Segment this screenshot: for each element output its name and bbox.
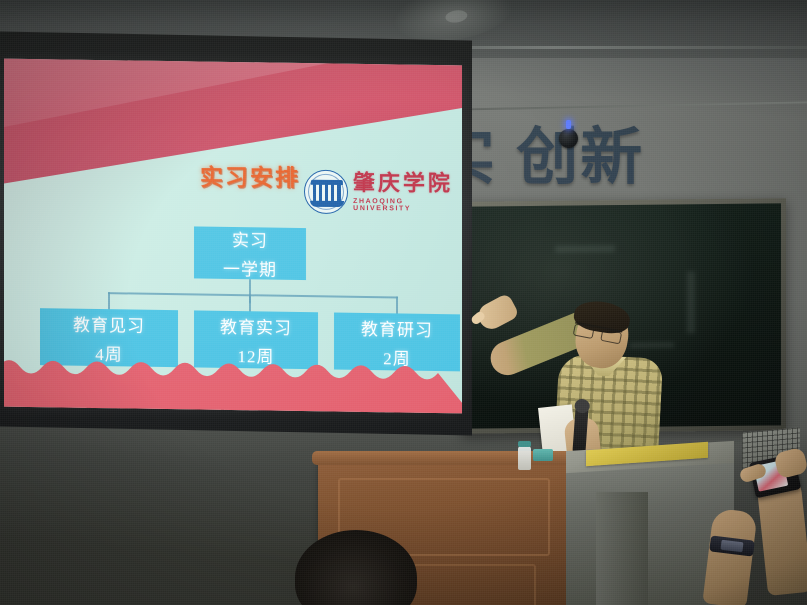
university-name-en: ZHAOQING UNIVERSITY (353, 198, 462, 213)
connector-branch-2 (249, 294, 251, 312)
university-seal-icon (304, 170, 348, 214)
green-object (533, 449, 553, 461)
projection-screen[interactable]: 实习安排 肇庆学院 ZHAOQING UNIVERSITY 实习 一学期 (4, 59, 462, 414)
presenter-pointing-hand (474, 293, 520, 334)
slide-title: 实习安排 (200, 158, 300, 192)
flow-node-root-label: 实习 (232, 226, 268, 252)
slide-bottom-band (4, 345, 462, 414)
chalk-smudge (687, 271, 695, 333)
flow-node-3-label: 教育研习 (361, 314, 433, 340)
flow-node-root-duration: 一学期 (223, 255, 277, 281)
flow-node-2-label: 教育实习 (220, 312, 292, 338)
wall-sensor-icon (559, 129, 578, 148)
connector-branch-1 (108, 292, 110, 310)
university-logo: 肇庆学院 ZHAOQING UNIVERSITY (304, 170, 462, 215)
wall-slogan-text: 实 创新 (455, 112, 644, 190)
photographer-left-arm (702, 508, 757, 605)
desk-leg (596, 492, 648, 605)
water-bottle-icon (518, 446, 531, 470)
seal-base-shape (310, 201, 344, 207)
photographer-hands (700, 442, 807, 605)
water-bottle-cap (518, 441, 531, 447)
university-wordmark: 肇庆学院 ZHAOQING UNIVERSITY (353, 172, 462, 213)
chalk-smudge (555, 245, 615, 253)
lecture-hall-photo: 实 创新 实习安排 肇庆学院 ZHAOQING UNIVERSITY (0, 0, 807, 605)
connector-branch-3 (396, 296, 398, 314)
flow-node-1-label: 教育见习 (73, 310, 145, 336)
flow-node-root: 实习 一学期 (194, 226, 306, 280)
slide-bottom-band-shape (4, 345, 462, 414)
wall-sensor-led-icon (566, 120, 571, 129)
wall-slogan: 实 创新 (455, 112, 807, 190)
university-name-cn: 肇庆学院 (353, 172, 462, 195)
